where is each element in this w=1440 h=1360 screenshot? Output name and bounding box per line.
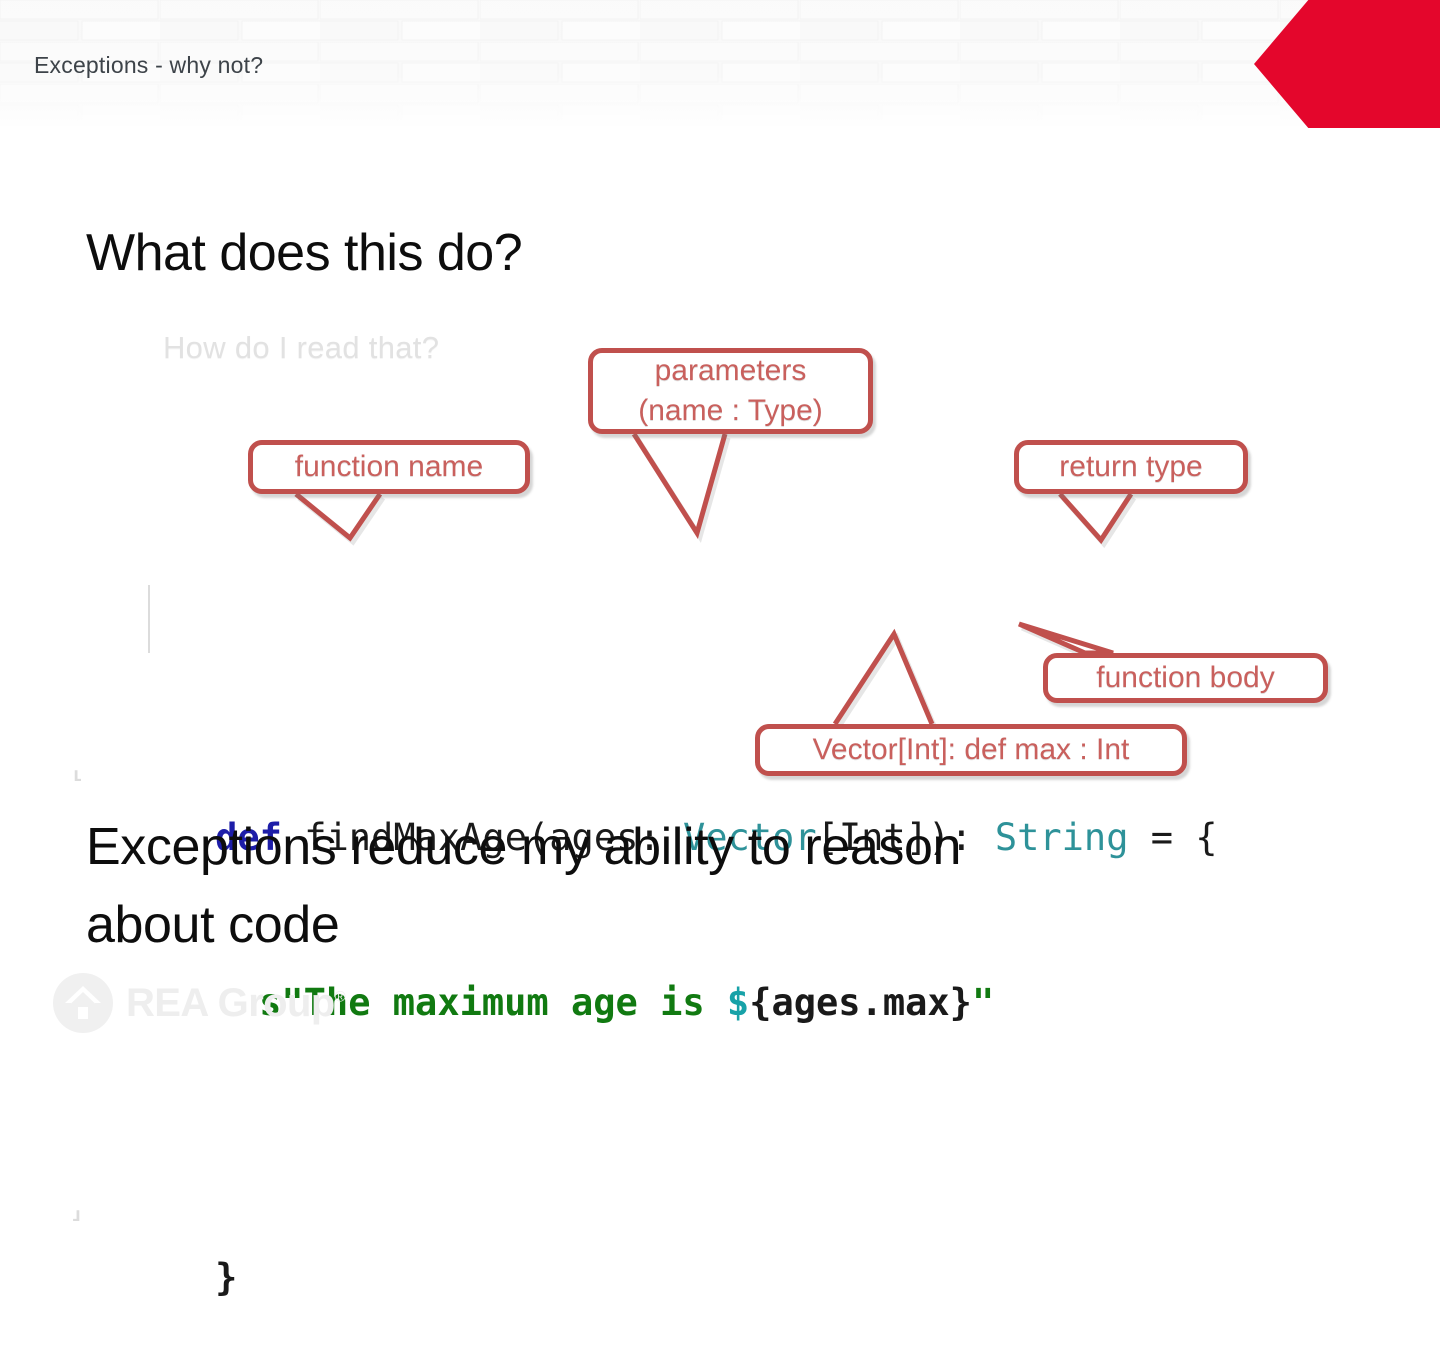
bottom-statement-line1: Exceptions reduce my ability to reason <box>86 808 1206 886</box>
callout-return-type: return type <box>1014 440 1248 494</box>
logo-name: REA Group <box>126 981 335 1025</box>
callout-function-name: function name <box>248 440 530 494</box>
code-interp-dollar: $ <box>727 981 749 1024</box>
callout-vector-max: Vector[Int]: def max : Int <box>755 724 1187 776</box>
callout-parameters-label-line2: (name : Type) <box>638 391 823 431</box>
red-accent-shape <box>1254 0 1440 128</box>
rea-group-logo: REA Group® <box>52 972 345 1034</box>
gutter-fold-icon[interactable]: ⸥ <box>68 1195 90 1221</box>
logo-text: REA Group® <box>126 981 345 1026</box>
bottom-statement: Exceptions reduce my ability to reason a… <box>86 808 1206 964</box>
registered-mark: ® <box>335 988 345 1005</box>
callout-parameters: parameters (name : Type) <box>588 348 873 434</box>
header-title: Exceptions - why not? <box>34 52 263 79</box>
bottom-statement-line2: about code <box>86 886 1206 964</box>
code-interp-expr: {ages.max} <box>749 981 972 1024</box>
code-close-brace: } <box>215 1256 237 1299</box>
house-icon <box>52 972 114 1034</box>
callout-return-type-label: return type <box>1059 447 1202 487</box>
callout-parameters-label-line1: parameters <box>655 351 807 391</box>
gutter-fold-icon[interactable]: ⸤ <box>68 755 90 781</box>
callout-function-body-label: function body <box>1096 658 1274 698</box>
page-title: What does this do? <box>86 222 522 284</box>
callout-function-body: function body <box>1043 653 1328 703</box>
callout-function-name-label: function name <box>295 447 483 487</box>
slide-header: Exceptions - why not? <box>0 0 1440 128</box>
faded-question-text: How do I read that? <box>163 329 439 367</box>
callout-vector-max-label: Vector[Int]: def max : Int <box>813 730 1130 770</box>
code-string-close: " <box>972 981 994 1024</box>
code-line-3: ⸥ } <box>60 1140 1340 1195</box>
